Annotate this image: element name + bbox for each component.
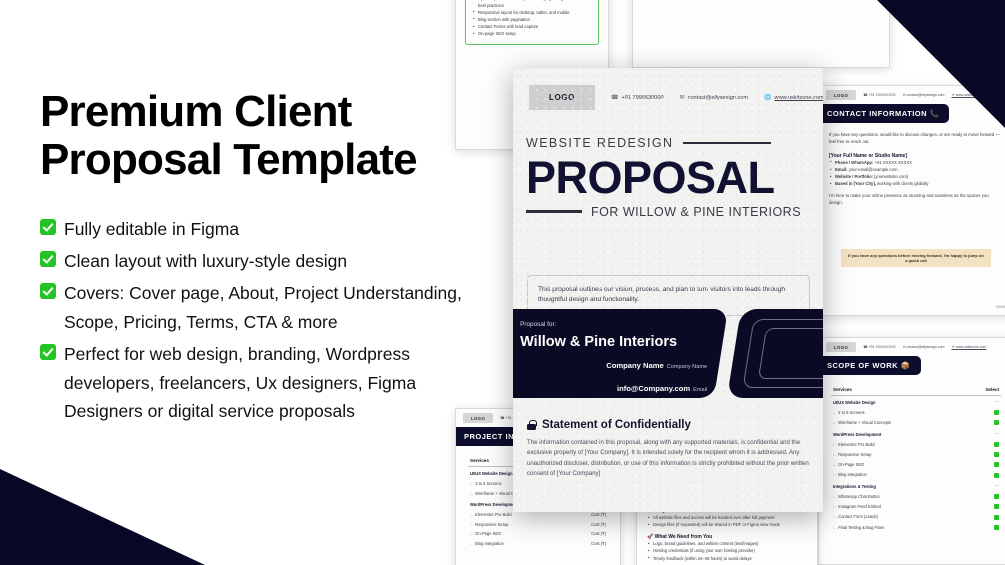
lock-icon xyxy=(527,420,536,430)
proposal-cover-card: LOGO ☎ +91 7995630000 ✉ contact@ellysesi… xyxy=(513,68,823,512)
page-subtitle: FOR WILLOW & PINE INTERIORS xyxy=(591,205,801,219)
table-row: Integrations & Testing— xyxy=(831,480,1001,491)
corner-decoration-bottom-left xyxy=(0,469,205,565)
list-item: Contact Forms with lead capture xyxy=(472,23,592,30)
package-icon: 📦 xyxy=(901,361,911,370)
checkbox-checked[interactable] xyxy=(994,410,999,415)
email-text: ✉ contact@ellysesign.com xyxy=(903,345,945,349)
doc-contact-intro: If you have any questions, would like to… xyxy=(829,132,1003,146)
check-icon xyxy=(40,283,56,299)
checkbox-checked[interactable] xyxy=(994,420,999,425)
logo-placeholder: LOGO xyxy=(529,85,595,110)
checkbox-checked[interactable] xyxy=(994,515,999,520)
list-item: Blog section with pagination xyxy=(472,16,592,23)
table-row: Elementor Pro Build xyxy=(831,439,1001,449)
table-row: Blog Integration xyxy=(831,470,1001,480)
doc-contact-lines: Phone / WhatsApp: +91 XXXXX XXXXX Email:… xyxy=(829,159,1003,188)
globe-icon: 🌐 xyxy=(764,94,771,101)
corner-decoration-top-right xyxy=(877,0,1005,128)
table-row: Instagram Feed Embed xyxy=(831,502,1001,512)
document-about-me: beautiful, responsive, and high-converti… xyxy=(632,0,890,68)
doc-files-s1-bullets: All website files and access will be han… xyxy=(647,514,807,528)
checkbox-checked[interactable] xyxy=(994,494,999,499)
promo-item-label: Fully editable in Figma xyxy=(64,215,470,243)
page-number: 09/09 xyxy=(996,305,1005,309)
table-row: Blog IntegrationCost (₹) xyxy=(468,539,608,549)
company-line: Company NameCompany Name xyxy=(520,355,721,373)
decorative-frame xyxy=(727,309,823,398)
list-item: Fully editable in Figma xyxy=(40,215,470,243)
list-item: All website files and access will be han… xyxy=(647,514,807,521)
phone-icon: ☎ xyxy=(611,94,618,101)
subtitle-row: FOR WILLOW & PINE INTERIORS xyxy=(526,205,823,219)
doc-contact-outro: I'm here to make your online presence as… xyxy=(829,193,1003,207)
check-icon xyxy=(40,219,56,235)
doc-files-s2-bullets: Logo, brand guidelines, and written cont… xyxy=(647,540,807,561)
list-item: Perfect for web design, branding, Wordpr… xyxy=(40,340,470,425)
client-band: Proposal for: Willow & Pine Interiors Co… xyxy=(513,309,728,398)
eyebrow-label: WEBSITE REDESIGN xyxy=(526,136,673,150)
table-row: 3 to 5 Screens xyxy=(831,407,1001,417)
eyebrow-row: WEBSITE REDESIGN xyxy=(526,136,823,150)
checkbox-checked[interactable] xyxy=(994,462,999,467)
checkbox-checked[interactable] xyxy=(994,452,999,457)
list-item: Timely feedback (within 24–48 hours) to … xyxy=(647,555,807,562)
phone-contact: ☎ +91 7995630000 xyxy=(611,94,664,101)
col-services: Services xyxy=(831,385,964,396)
table-row: Wireframe + Visual Concepts xyxy=(831,418,1001,428)
promo-item-label: Covers: Cover page, About, Project Under… xyxy=(64,279,470,336)
checkbox-checked[interactable] xyxy=(994,525,999,530)
logo-placeholder: LOGO xyxy=(826,342,856,352)
table-row: UI/UX Website Design— xyxy=(831,396,1001,408)
slide-canvas: To meet your goals, I propose the follow… xyxy=(0,0,1005,565)
website-contact[interactable]: 🌐 www.uxkitzone.com xyxy=(764,94,823,101)
website-text: ☀ www.uxkitzone.com xyxy=(951,345,986,349)
subtitle-rule xyxy=(526,210,582,213)
list-item: Logo, brand guidelines, and written cont… xyxy=(647,540,807,547)
email-line: info@Company.comEmail xyxy=(520,378,721,396)
doc-scope-header: LOGO ☎ +91 79XXXXXXX ✉ contact@ellysesig… xyxy=(819,338,1005,355)
list-item: Website / Portfolio: [yourwebsite.com] xyxy=(829,173,1003,180)
checkbox-checked[interactable] xyxy=(994,442,999,447)
doc-tl-bullets: Custom WordPress Website tailored to you… xyxy=(472,0,592,37)
envelope-icon: ✉ xyxy=(680,94,685,101)
promo-title: Premium Client Proposal Template xyxy=(40,88,470,185)
confidentiality-body: The information contained in this propos… xyxy=(527,438,809,480)
list-item: Clean layout with luxury-style design xyxy=(40,247,470,275)
eyebrow-rule xyxy=(683,142,771,145)
list-item: Responsive layout for desktop, tablet, a… xyxy=(472,9,592,16)
list-item: Covers: Cover page, About, Project Under… xyxy=(40,279,470,336)
table-row: Contact Form (Leads) xyxy=(831,512,1001,522)
page-title: PROPOSAL xyxy=(526,154,823,203)
section-ribbon-scope: SCOPE OF WORK 📦 xyxy=(818,356,921,375)
check-icon xyxy=(40,251,56,267)
logo-placeholder: LOGO xyxy=(826,90,856,100)
table-row: On-Page SEO xyxy=(831,460,1001,470)
client-name: Willow & Pine Interiors xyxy=(520,334,721,350)
confidentiality-section: Statement of Confidentially The informat… xyxy=(527,419,809,480)
table-row: WordPress Development— xyxy=(831,428,1001,439)
email-contact: ✉ contact@ellysesign.com xyxy=(680,94,748,101)
list-item: Phone / WhatsApp: +91 XXXXX XXXXX xyxy=(829,159,1003,166)
phone-text: ☎ +91 79XXXXXXX xyxy=(863,345,896,349)
table-row: Responsive SetupCost (₹) xyxy=(468,519,608,529)
list-item: Based in [Your City], working with clien… xyxy=(829,180,1003,187)
list-item: On-page SEO setup xyxy=(472,30,592,37)
promo-panel: Premium Client Proposal Template Fully e… xyxy=(40,88,470,429)
col-select: Select xyxy=(964,385,1001,396)
list-item: Design files (if requested) will be shar… xyxy=(647,521,807,528)
doc-contact-callout: If you have any questions before moving … xyxy=(841,249,991,267)
check-icon xyxy=(40,344,56,360)
checkbox-checked[interactable] xyxy=(994,504,999,509)
list-item: Email: your-email@example.com xyxy=(829,166,1003,173)
promo-feature-list: Fully editable in Figma Clean layout wit… xyxy=(40,215,470,425)
document-scope-of-work: LOGO ☎ +91 79XXXXXXX ✉ contact@ellysesig… xyxy=(818,337,1005,565)
scope-table: Services Select UI/UX Website Design— 3 … xyxy=(831,385,1001,532)
cover-title-block: WEBSITE REDESIGN PROPOSAL FOR WILLOW & P… xyxy=(513,110,823,219)
checkbox-checked[interactable] xyxy=(994,473,999,478)
confidentiality-title: Statement of Confidentially xyxy=(527,419,809,431)
cover-header: LOGO ☎ +91 7995630000 ✉ contact@ellysesi… xyxy=(513,68,823,110)
table-row: On-Page SEOCost (₹) xyxy=(468,529,608,539)
table-header-row: Services Select xyxy=(831,385,1001,396)
promo-item-label: Clean layout with luxury-style design xyxy=(64,247,470,275)
table-row: WhatsApp Chat Button xyxy=(831,491,1001,501)
list-item: Speed-optimized development using lightw… xyxy=(472,0,592,9)
table-row: Responsive Setup xyxy=(831,449,1001,459)
proposal-for-label: Proposal for: xyxy=(520,321,721,328)
table-row: Final Testing & Bug Fixes xyxy=(831,522,1001,532)
promo-item-label: Perfect for web design, branding, Wordpr… xyxy=(64,340,470,425)
list-item: Hosting credentials (if using your own h… xyxy=(647,547,807,554)
